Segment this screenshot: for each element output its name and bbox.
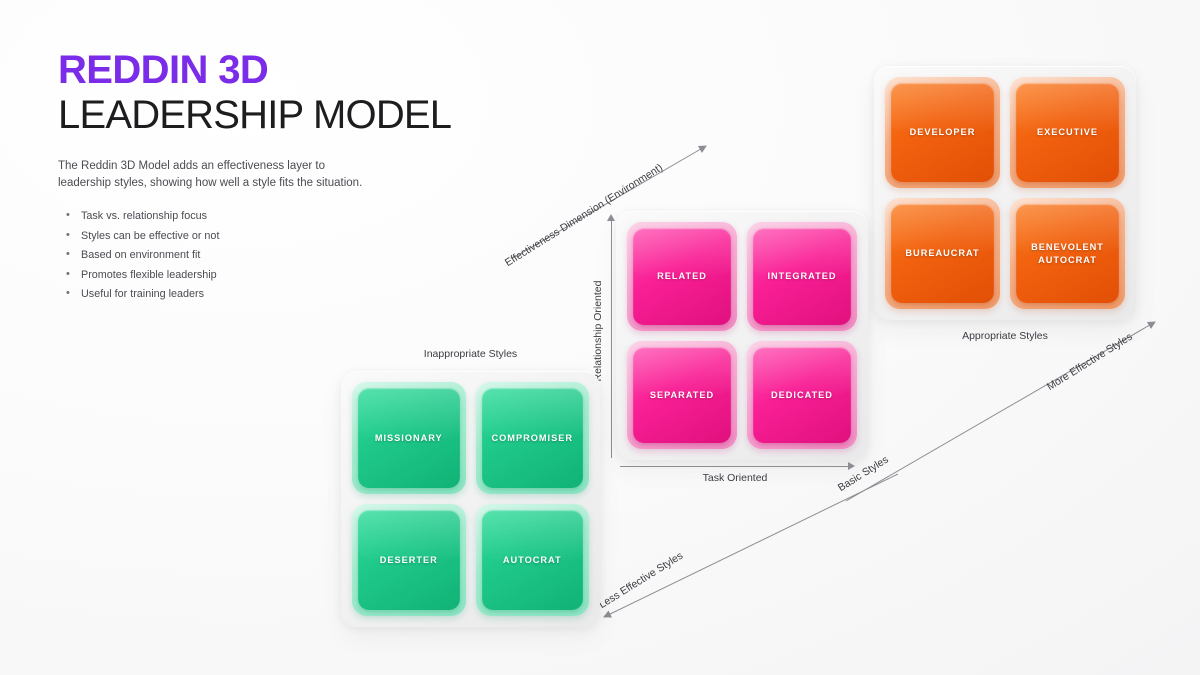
intro-paragraph: The Reddin 3D Model adds an effectivenes…	[58, 158, 373, 194]
cell-autocrat[interactable]: AUTOCRAT	[476, 504, 590, 616]
list-item: Useful for training leaders	[58, 287, 378, 302]
cell-deserter[interactable]: DESERTER	[352, 504, 466, 616]
cell-related[interactable]: RELATED	[627, 222, 737, 331]
cell-missionary[interactable]: MISSIONARY	[352, 382, 466, 494]
cell-integrated[interactable]: INTEGRATED	[747, 222, 857, 331]
cell-label: DEVELOPER	[905, 126, 981, 138]
cell-dedicated[interactable]: DEDICATED	[747, 341, 857, 450]
axis-label-less-effective: Less Effective Styles	[597, 550, 685, 611]
cell-label: COMPROMISER	[487, 432, 578, 444]
matrix-appropriate-styles[interactable]: DEVELOPER EXECUTIVE BUREAUCRAT BENEVOLEN…	[874, 66, 1136, 320]
cell-separated[interactable]: SEPARATED	[627, 341, 737, 450]
cell-developer[interactable]: DEVELOPER	[885, 77, 1000, 188]
cell-benevolent-autocrat[interactable]: BENEVOLENT AUTOCRAT	[1010, 198, 1125, 309]
matrix-inappropriate-styles[interactable]: MISSIONARY COMPROMISER DESERTER AUTOCRAT	[341, 371, 600, 627]
list-item: Task vs. relationship focus	[58, 209, 378, 224]
headline-block: REDDIN 3D LEADERSHIP MODEL The Reddin 3D…	[58, 50, 478, 307]
matrix-basic-styles[interactable]: RELATED INTEGRATED SEPARATED DEDICATED	[616, 211, 868, 460]
cell-label: BENEVOLENT AUTOCRAT	[1016, 241, 1119, 266]
x-axis-label: Task Oriented	[620, 472, 850, 484]
bullet-list: Task vs. relationship focus Styles can b…	[58, 209, 378, 302]
slide-canvas: REDDIN 3D LEADERSHIP MODEL The Reddin 3D…	[0, 0, 1200, 675]
y-axis-line	[611, 219, 612, 458]
page-title: REDDIN 3D	[58, 50, 478, 91]
cell-label: INTEGRATED	[762, 270, 841, 282]
cell-executive[interactable]: EXECUTIVE	[1010, 77, 1125, 188]
cell-label: SEPARATED	[645, 389, 719, 401]
cell-label: BUREAUCRAT	[900, 247, 984, 259]
cell-label: DESERTER	[375, 554, 443, 566]
x-axis-line	[620, 466, 850, 467]
cell-label: EXECUTIVE	[1032, 126, 1103, 138]
cell-label: MISSIONARY	[370, 432, 448, 444]
cell-label: DEDICATED	[766, 389, 838, 401]
list-item: Promotes flexible leadership	[58, 268, 378, 283]
caption-appropriate-styles: Appropriate Styles	[874, 330, 1136, 342]
cell-label: AUTOCRAT	[498, 554, 567, 566]
caption-inappropriate-styles: Inappropriate Styles	[341, 348, 600, 360]
cell-label: RELATED	[652, 270, 712, 282]
list-item: Based on environment fit	[58, 248, 378, 263]
cell-compromiser[interactable]: COMPROMISER	[476, 382, 590, 494]
cell-bureaucrat[interactable]: BUREAUCRAT	[885, 198, 1000, 309]
x-axis-arrowhead-icon	[848, 462, 855, 470]
page-subtitle: LEADERSHIP MODEL	[58, 93, 478, 138]
y-axis-arrowhead-icon	[607, 214, 615, 221]
list-item: Styles can be effective or not	[58, 229, 378, 244]
